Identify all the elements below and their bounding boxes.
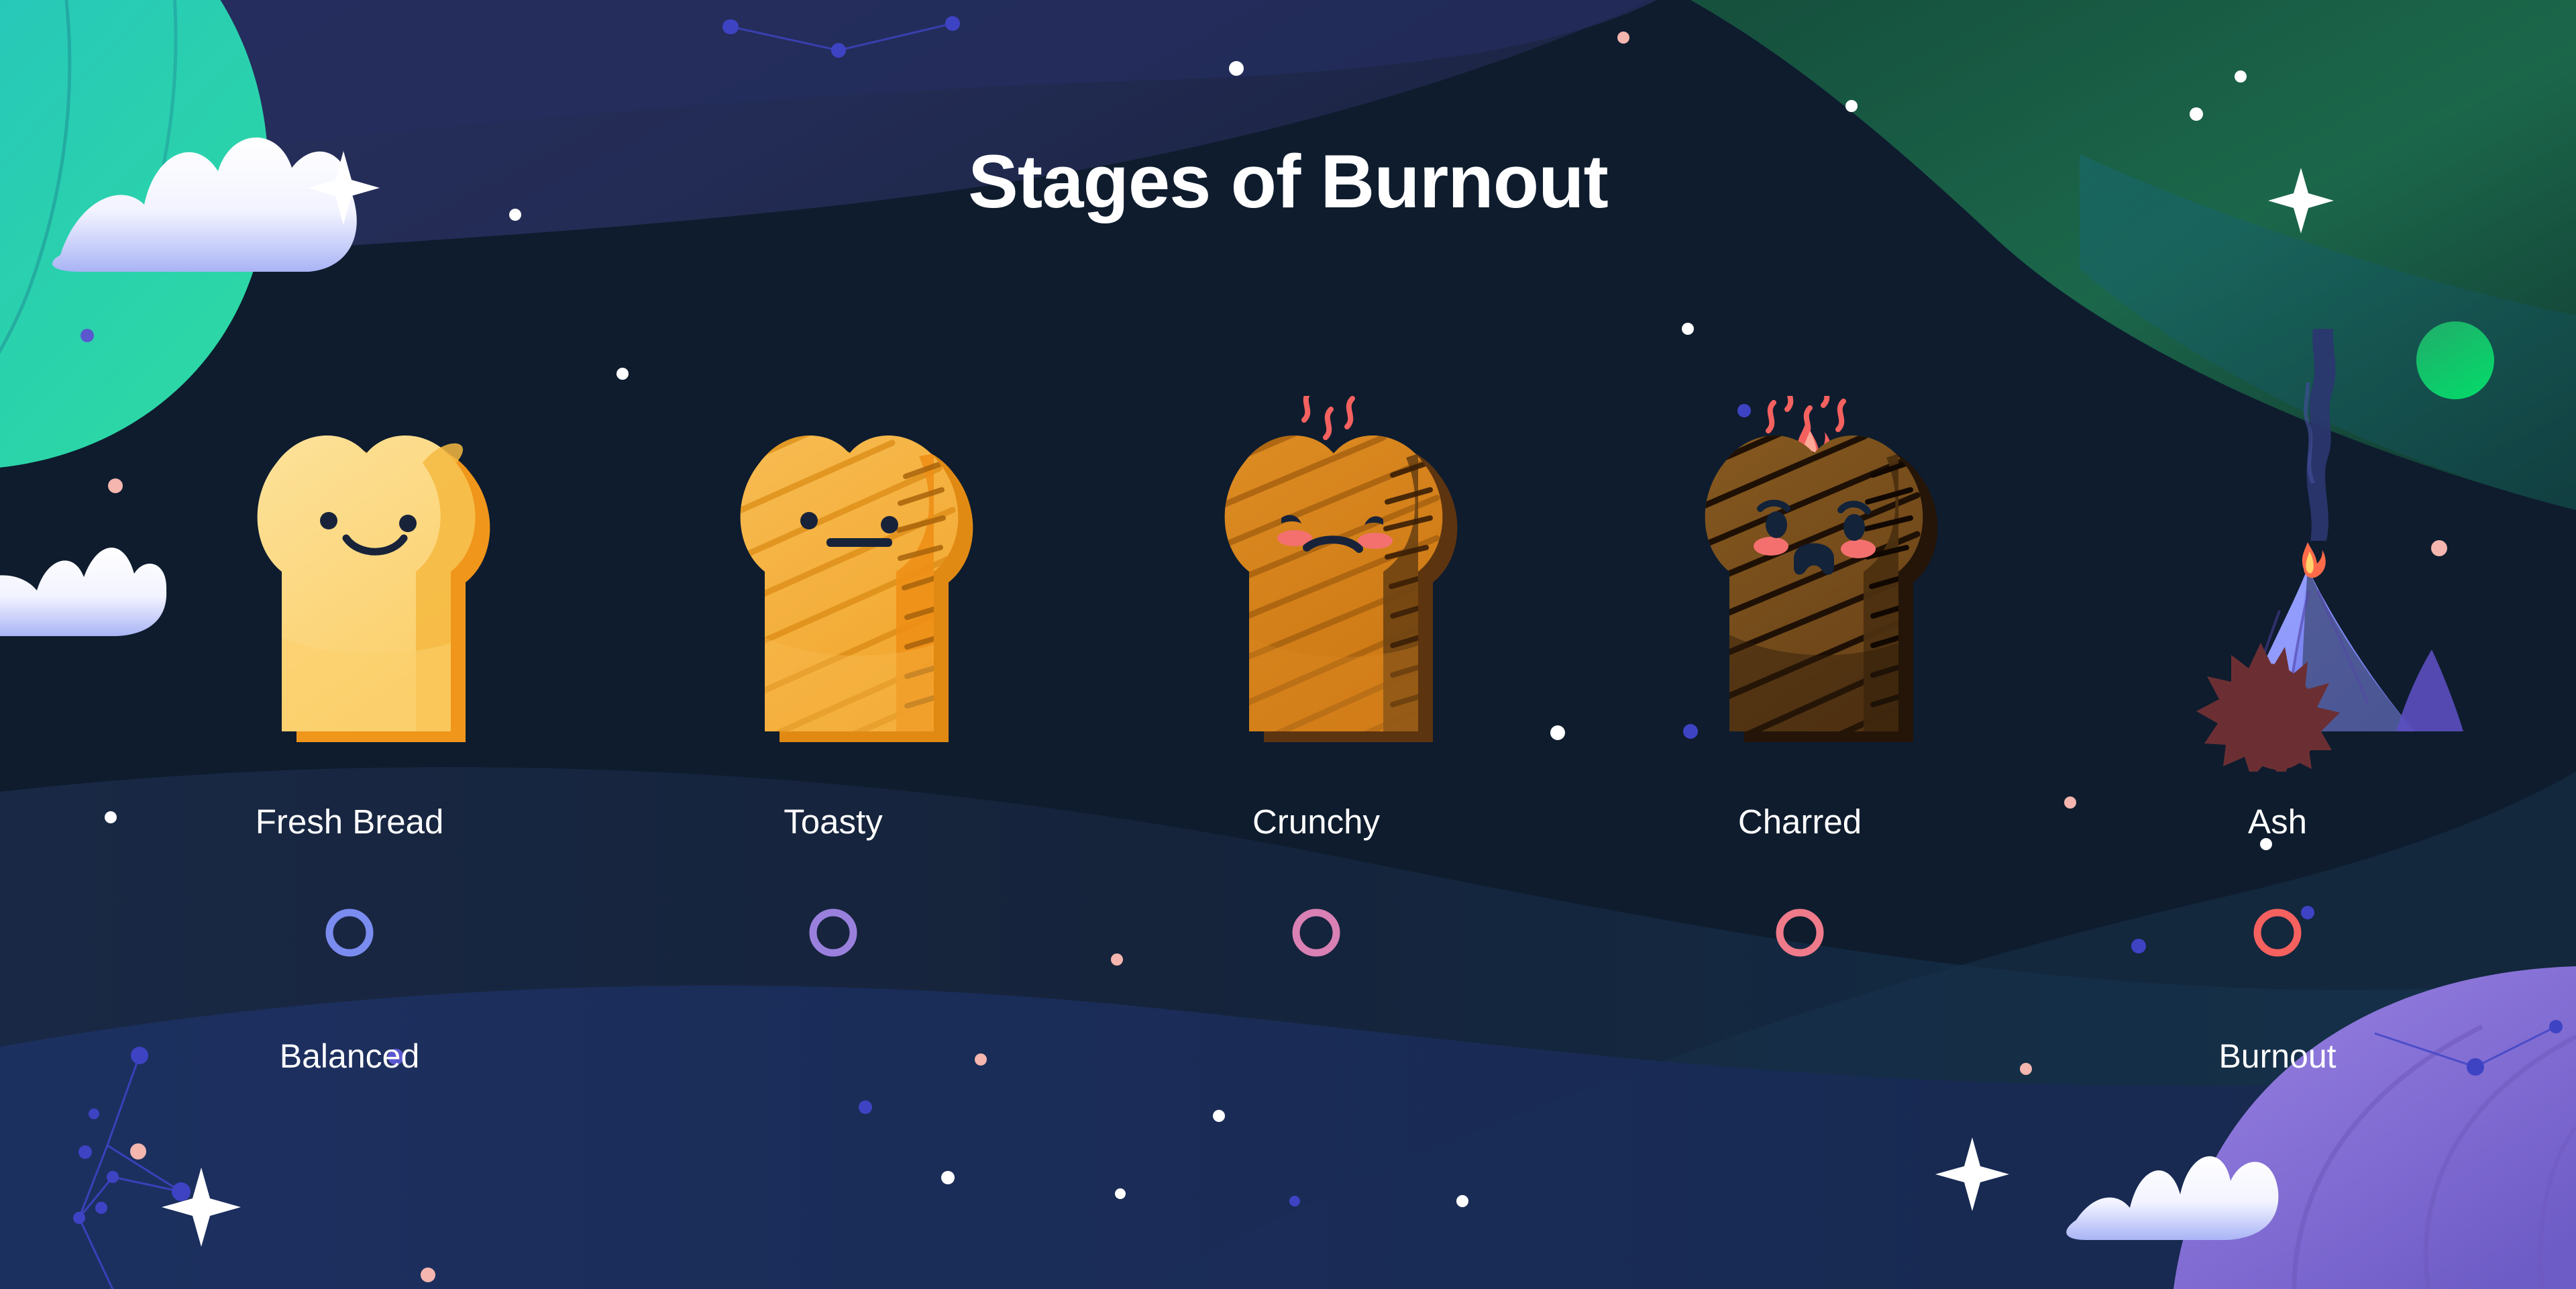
ash-blob-icon (2196, 643, 2340, 772)
stage-label-crunchy: Crunchy (1252, 802, 1380, 841)
bread-toasty[interactable] (698, 396, 993, 772)
steam-icon-group (1304, 396, 1352, 437)
scale-label-balanced: Balanced (280, 1037, 420, 1076)
stage-label-row: Fresh Bread Toasty Crunchy Charred Ash (0, 802, 2576, 862)
burnout-timeline[interactable] (0, 892, 2576, 973)
stage-label-charred: Charred (1738, 802, 1862, 841)
infographic-canvas: Stages of Burnout (0, 0, 2576, 1289)
scale-label-burnout: Burnout (2218, 1037, 2336, 1076)
bread-crunchy[interactable] (1182, 396, 1477, 772)
page-title: Stages of Burnout (0, 144, 2576, 219)
stage-label-fresh-bread: Fresh Bread (256, 802, 444, 841)
planet-green (2416, 321, 2494, 399)
stage-label-toasty: Toasty (784, 802, 882, 841)
scale-endpoint-row: Balanced Burnout (0, 1037, 2576, 1090)
bread-fresh-bread[interactable] (215, 396, 510, 772)
bread-ash[interactable] (2165, 396, 2394, 772)
bread-charred[interactable] (1662, 396, 1971, 772)
stage-label-ash: Ash (2248, 802, 2307, 841)
bread-character-row (0, 396, 2576, 772)
